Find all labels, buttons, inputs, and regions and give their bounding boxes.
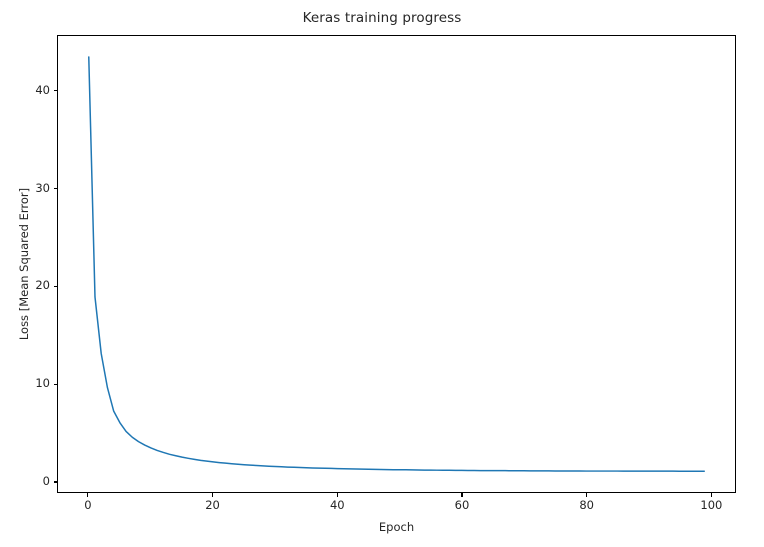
y-axis-label: Loss [Mean Squared Error] [14, 35, 34, 493]
y-tick-mark [54, 384, 58, 385]
x-tick-label: 0 [58, 500, 118, 512]
y-tick-mark [54, 90, 58, 91]
x-tick-mark [212, 493, 213, 497]
chart-title: Keras training progress [0, 10, 764, 26]
x-tick-mark [87, 493, 88, 497]
x-tick-mark [461, 493, 462, 497]
x-tick-label: 60 [432, 500, 492, 512]
y-tick-mark [54, 188, 58, 189]
x-tick-label: 20 [183, 500, 243, 512]
x-tick-label: 80 [557, 500, 617, 512]
x-tick-mark [586, 493, 587, 497]
loss-curve-svg [58, 36, 735, 492]
x-tick-mark [337, 493, 338, 497]
loss-line-series [89, 57, 704, 471]
plot-axes [57, 35, 736, 493]
x-tick-label: 100 [681, 500, 741, 512]
x-tick-label: 40 [307, 500, 367, 512]
matplotlib-figure: Keras training progress 010203040 020406… [0, 0, 764, 547]
x-tick-mark [711, 493, 712, 497]
y-tick-mark [54, 286, 58, 287]
y-tick-mark [54, 481, 58, 482]
x-axis-label: Epoch [57, 520, 736, 534]
